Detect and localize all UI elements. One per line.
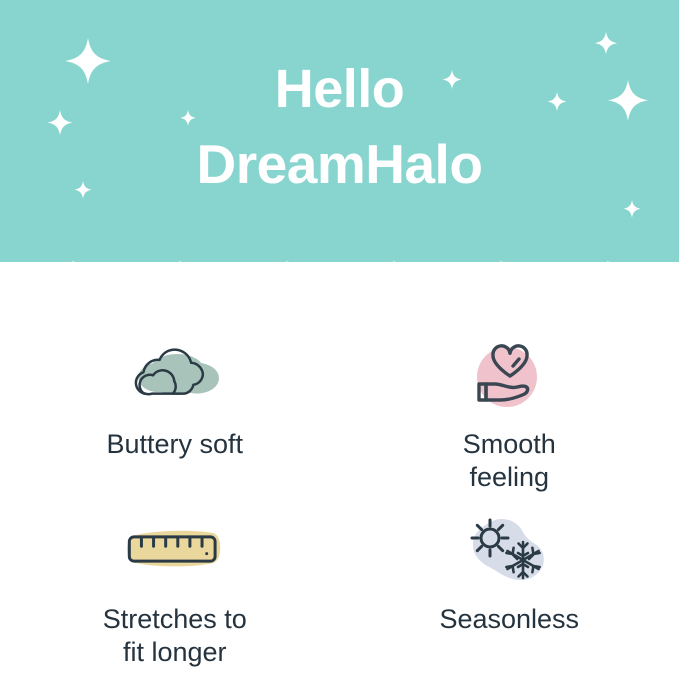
feature-label-seasonless: Seasonless (439, 603, 579, 636)
hero-header: Hello DreamHalo (0, 0, 679, 262)
hero-background (0, 0, 679, 262)
feature-item-seasonless: Seasonless (340, 495, 679, 676)
feature-item-stretches: Stretches to fit longer (0, 495, 340, 676)
feature-label-smooth-feeling: Smooth feeling (463, 428, 556, 495)
ruler-dot (205, 552, 208, 555)
feature-grid: Buttery soft Smooth feeling (0, 262, 679, 676)
ruler-icon (120, 513, 230, 585)
feature-label-stretches: Stretches to fit longer (103, 603, 247, 670)
feature-label-buttery-soft: Buttery soft (106, 428, 243, 461)
feature-item-smooth-feeling: Smooth feeling (340, 262, 679, 495)
feature-item-buttery-soft: Buttery soft (0, 262, 340, 495)
cloud-icon (120, 340, 230, 412)
sun-snowflake-icon (454, 513, 564, 585)
scallop-edge (0, 0, 679, 262)
heart-in-hand-icon (454, 340, 564, 412)
